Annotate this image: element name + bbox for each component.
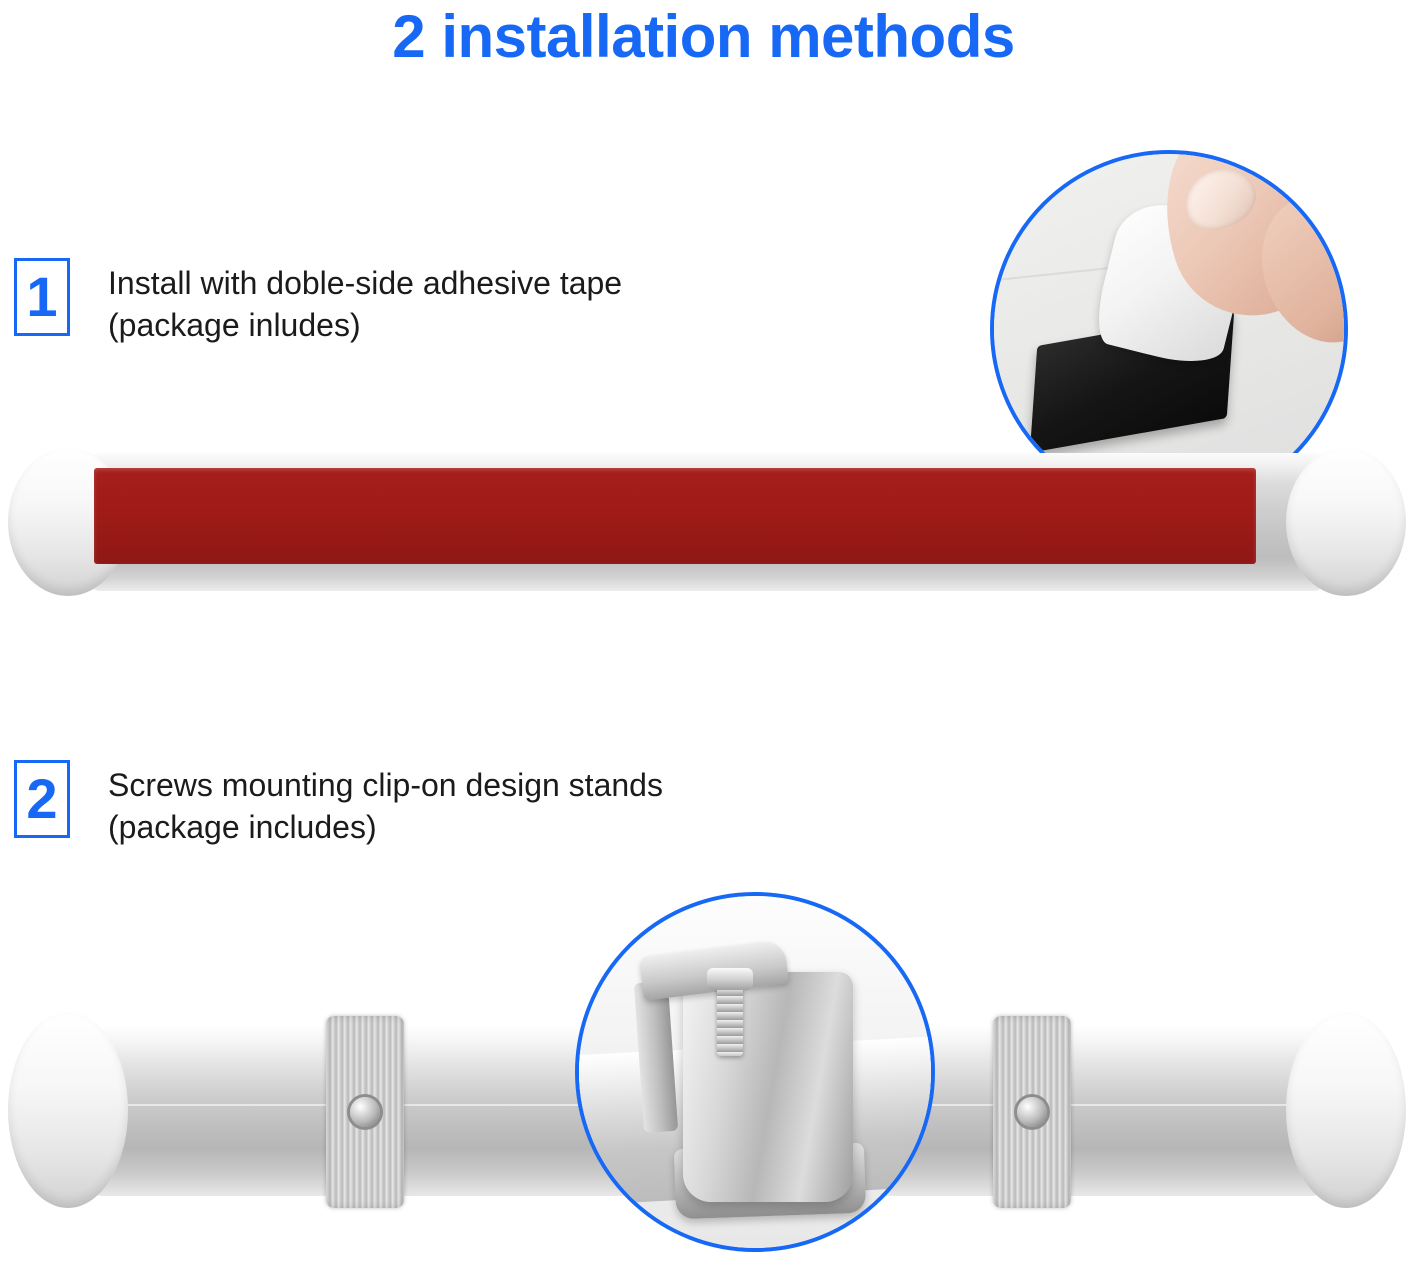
page-title: 2 installation methods — [0, 2, 1407, 71]
metal-clip-ring-right-icon — [993, 1016, 1071, 1208]
red-adhesive-tape-strip — [94, 468, 1256, 564]
step-1-number: 1 — [14, 258, 70, 336]
step-2-number: 2 — [14, 760, 70, 838]
step-2-text: Screws mounting clip-on design stands (p… — [108, 760, 663, 848]
step-2-block: 2 Screws mounting clip-on design stands … — [14, 760, 663, 848]
screw-head-icon — [707, 968, 753, 990]
clip-body-icon — [683, 972, 853, 1202]
step-1-block: 1 Install with doble-side adhesive tape … — [14, 258, 622, 346]
metal-clip-ring-left-icon — [326, 1016, 404, 1208]
step-1-text: Install with doble-side adhesive tape (p… — [108, 258, 622, 346]
bar-2-left-end-cap — [8, 1012, 128, 1208]
product-bar-with-tape — [8, 448, 1406, 596]
bar-1-right-end-cap — [1286, 448, 1406, 596]
screw-icon — [717, 980, 743, 1056]
bar-2-right-end-cap — [1286, 1012, 1406, 1208]
screw-clip-callout — [575, 892, 935, 1252]
